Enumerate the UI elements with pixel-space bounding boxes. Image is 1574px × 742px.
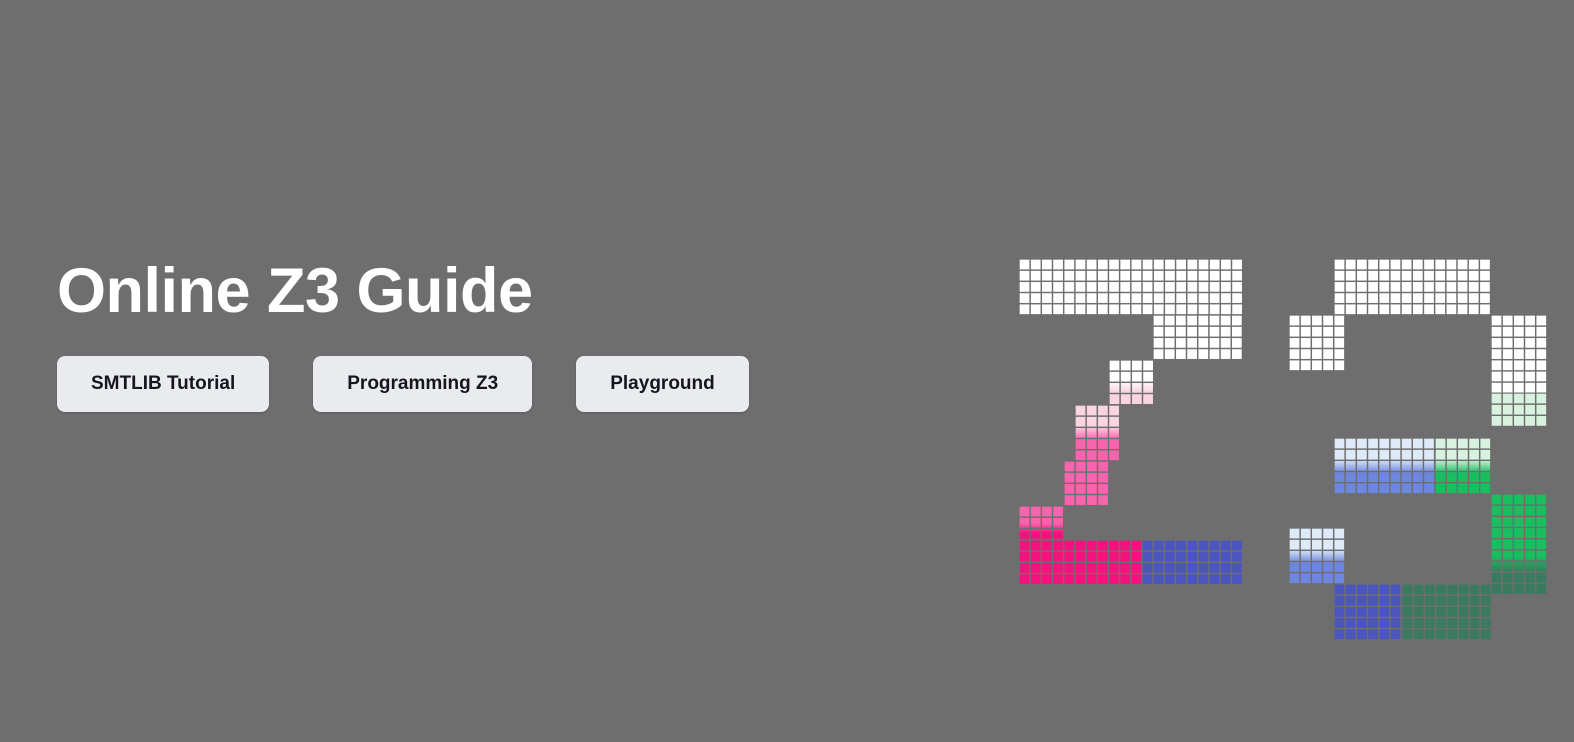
logo-block-bottom-pink: [1019, 540, 1142, 585]
logo-block-step-4: [1064, 461, 1109, 506]
logo-block-mid-bar-blue: [1334, 438, 1435, 494]
logo-digit-3: [1289, 259, 1519, 589]
logo-block-top-bar: [1334, 259, 1491, 315]
logo-block-step-2: [1109, 360, 1154, 405]
playground-button[interactable]: Playground: [576, 356, 749, 412]
hero-button-row: SMTLIB Tutorial Programming Z3 Playgroun…: [57, 356, 957, 412]
logo-block-bottom-blue: [1334, 584, 1402, 640]
hero-section: Online Z3 Guide SMTLIB Tutorial Programm…: [0, 0, 1574, 742]
logo-block-left-stub-low: [1289, 528, 1345, 584]
logo-block-bottom-green: [1402, 584, 1491, 640]
logo-block-right-col-low: [1491, 494, 1547, 594]
programming-z3-button[interactable]: Programming Z3: [313, 356, 532, 412]
logo-block-upper-step: [1153, 315, 1243, 360]
smtlib-tutorial-button[interactable]: SMTLIB Tutorial: [57, 356, 269, 412]
logo-block-left-stub-top: [1289, 315, 1345, 371]
logo-digit-7: [1019, 259, 1249, 589]
logo-block-right-col-top: [1491, 315, 1547, 393]
logo-block-top-bar: [1019, 259, 1243, 315]
page-title: Online Z3 Guide: [57, 258, 957, 324]
logo-block-step-3: [1075, 405, 1120, 461]
z3-pixel-logo: [1019, 259, 1519, 589]
hero-text-column: Online Z3 Guide SMTLIB Tutorial Programm…: [57, 258, 957, 412]
logo-block-right-col-grn: [1491, 393, 1547, 427]
logo-block-mid-bar-green: [1435, 438, 1491, 494]
logo-block-bottom-blue: [1142, 540, 1243, 585]
